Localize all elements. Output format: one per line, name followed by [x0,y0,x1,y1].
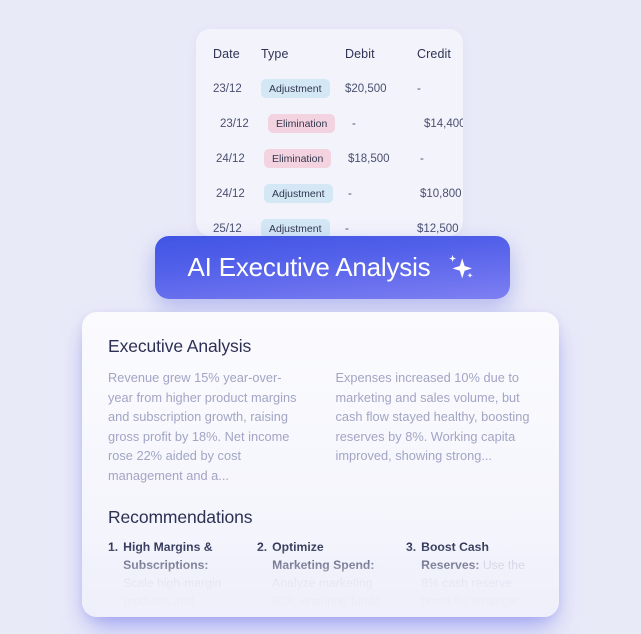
executive-analysis-summary: Revenue grew 15% year-over-year from hig… [108,368,533,485]
recommendations-title: Recommendations [108,507,533,528]
recommendation-heading: High Margins & Subscriptions: [123,540,212,572]
cell-credit: $10,800 [420,176,463,211]
recommendations-list: 1. High Margins & Subscriptions: Scale h… [108,539,533,617]
type-badge-adjustment: Adjustment [261,219,330,236]
recommendation-item: 3. Boost Cash Reserves: Use the 8% cash … [406,539,533,617]
cell-type: Elimination [268,106,352,141]
table-body: 23/12 Adjustment $20,500 - 23/12 Elimina… [196,71,463,236]
recommendation-body: Optimize Marketing Spend: Analyze market… [272,539,384,617]
cell-debit: - [348,176,420,211]
table-header: Date Type Debit Credit [196,29,463,71]
cell-type: Elimination [264,141,348,176]
column-header-type: Type [261,29,345,71]
cell-debit: $20,500 [345,71,417,106]
cell-date: 25/12 [196,211,261,236]
cell-credit: - [417,71,463,106]
cell-type: Adjustment [261,71,345,106]
recommendation-number: 3. [406,539,416,617]
recommendation-heading: Boost Cash Reserves: [421,540,489,572]
cell-type: Adjustment [264,176,348,211]
summary-paragraph-right: Expenses increased 10% due to marketing … [336,368,534,485]
cell-debit: $18,500 [348,141,420,176]
table-row[interactable]: 24/12 Adjustment - $10,800 [196,176,463,211]
recommendation-body: High Margins & Subscriptions: Scale high… [123,539,235,617]
table-row[interactable]: 24/12 Elimination $18,500 - [196,141,463,176]
table-row[interactable]: 23/12 Adjustment $20,500 - [196,71,463,106]
table-row[interactable]: 25/12 Adjustment - $12,500 [196,211,463,236]
type-badge-elimination: Elimination [264,149,331,168]
cell-type: Adjustment [261,211,345,236]
cell-debit: - [352,106,424,141]
cell-date: 24/12 [199,176,264,211]
ai-banner-label: AI Executive Analysis [188,252,431,283]
cell-debit: - [345,211,417,236]
ai-executive-analysis-banner[interactable]: AI Executive Analysis [155,236,510,299]
executive-analysis-title: Executive Analysis [108,336,533,357]
cell-date: 23/12 [196,71,261,106]
type-badge-elimination: Elimination [268,114,335,133]
executive-analysis-card: Executive Analysis Revenue grew 15% year… [82,312,559,617]
column-header-credit: Credit [417,29,463,71]
type-badge-adjustment: Adjustment [264,184,333,203]
cell-credit: $14,400 [424,106,463,141]
table-row[interactable]: 23/12 Elimination - $14,400 [196,106,463,141]
summary-paragraph-left: Revenue grew 15% year-over-year from hig… [108,368,306,485]
recommendation-heading: Optimize Marketing Spend: [272,540,374,572]
cell-date: 24/12 [199,141,264,176]
cell-credit: $12,500 [417,211,463,236]
cell-credit: - [420,141,463,176]
sparkle-icon [443,251,477,285]
cell-date: 23/12 [203,106,268,141]
recommendation-number: 1. [108,539,118,617]
recommendation-text: Scale high-margin products and expand su… [123,576,231,617]
recommendation-text: Analyze marketing ROI, ensuring funds ar… [272,576,380,617]
column-header-date: Date [196,29,261,71]
type-badge-adjustment: Adjustment [261,79,330,98]
transactions-table: Date Type Debit Credit 23/12 Adjustment … [196,29,463,236]
table-header-row: Date Type Debit Credit [196,29,463,71]
column-header-debit: Debit [345,29,417,71]
recommendation-number: 2. [257,539,267,617]
recommendation-item: 2. Optimize Marketing Spend: Analyze mar… [257,539,384,617]
recommendation-body: Boost Cash Reserves: Use the 8% cash res… [421,539,533,617]
recommendation-item: 1. High Margins & Subscriptions: Scale h… [108,539,235,617]
transactions-table-card: Date Type Debit Credit 23/12 Adjustment … [196,29,463,236]
